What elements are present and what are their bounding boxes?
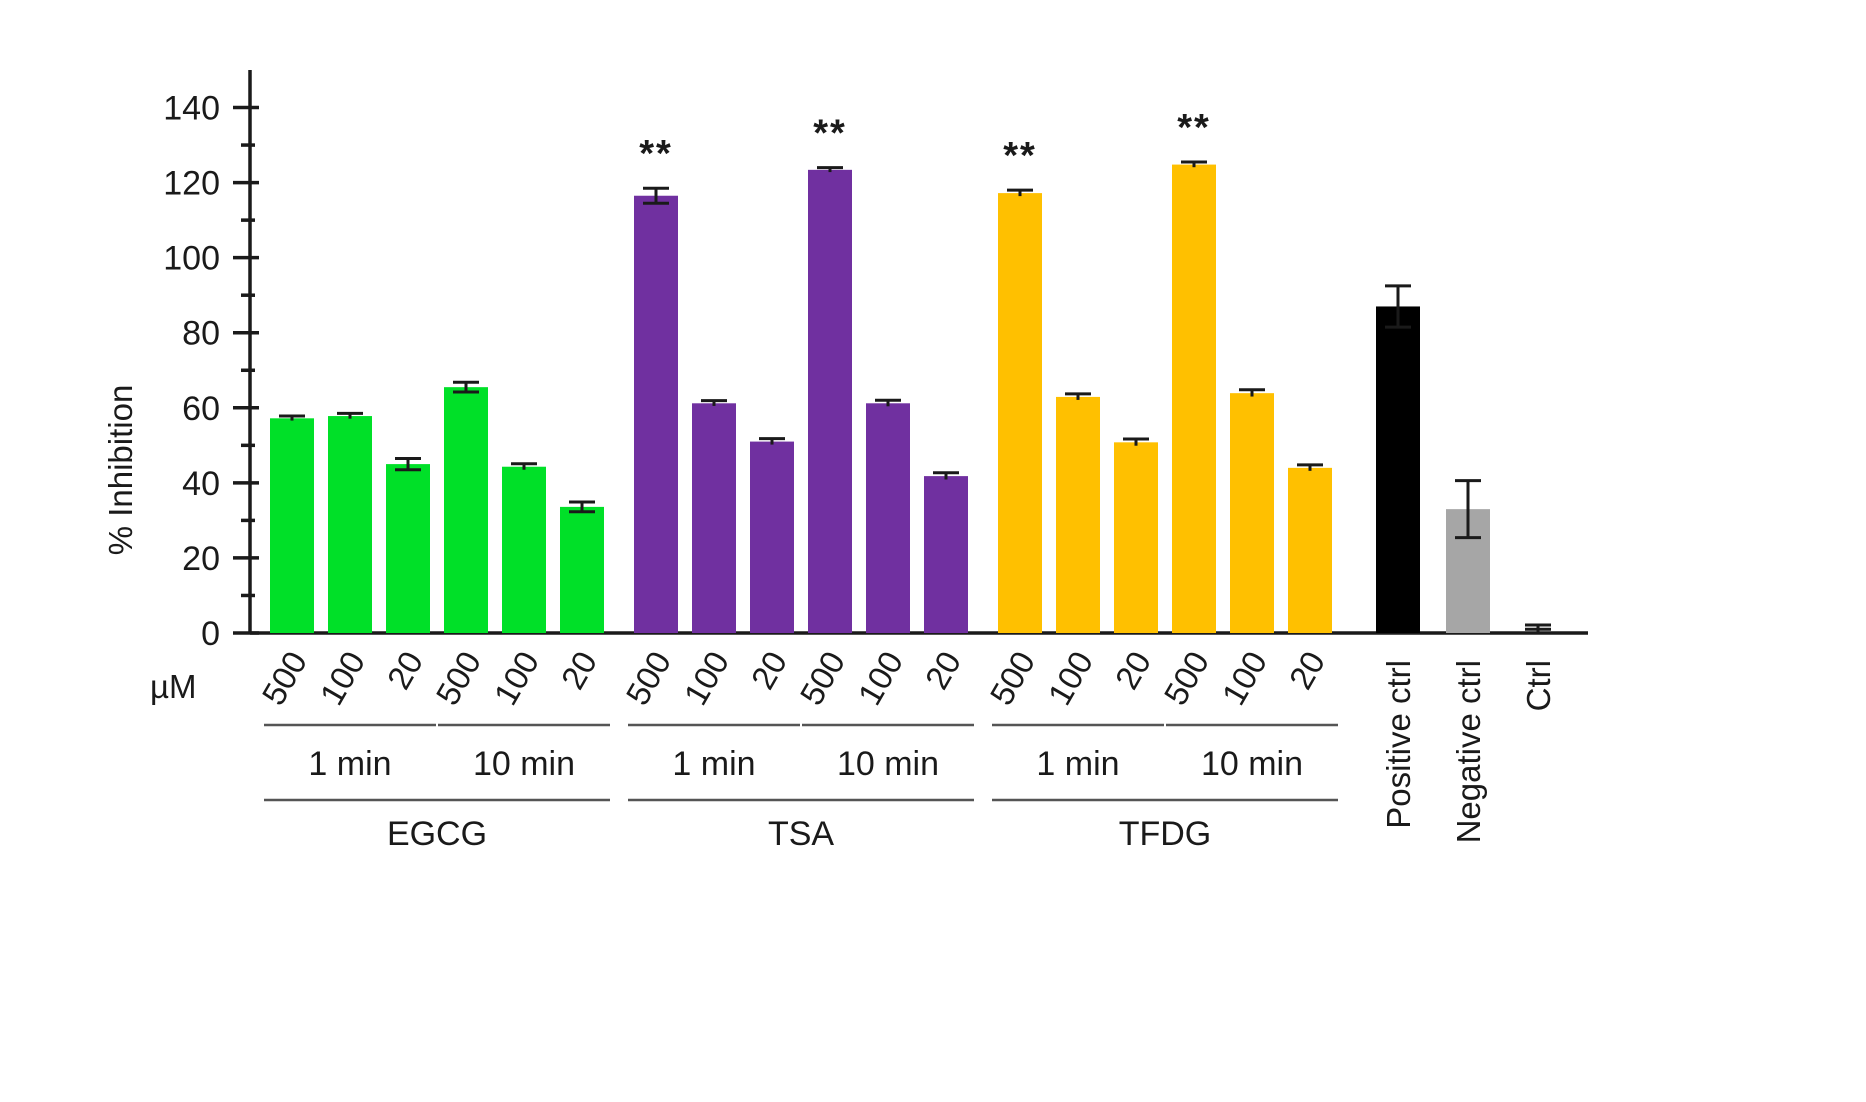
y-tick-label: 100 — [163, 240, 220, 278]
concentration-unit-label: µM — [150, 668, 197, 705]
y-tick-label: 60 — [182, 390, 220, 428]
bar-chart: % Inhibition 020406080100120140 ********… — [0, 0, 1866, 1102]
control-label: Ctrl — [1520, 660, 1557, 711]
compound-group-label: EGCG — [387, 815, 487, 853]
bar — [1376, 306, 1420, 633]
figure-canvas: % Inhibition 020406080100120140 ********… — [0, 0, 1866, 1102]
significance-marker: ** — [813, 113, 847, 155]
y-tick-label: 140 — [163, 90, 220, 128]
significance-marker: ** — [1003, 135, 1037, 177]
bar — [998, 193, 1042, 633]
time-group-label: 1 min — [672, 745, 755, 783]
bar — [866, 403, 910, 633]
compound-group-label: TSA — [768, 815, 834, 853]
time-group-label: 1 min — [308, 745, 391, 783]
bar — [1288, 468, 1332, 633]
bar — [692, 403, 736, 633]
compound-group-label: TFDG — [1119, 815, 1212, 853]
significance-marker: ** — [1177, 107, 1211, 149]
time-group-label: 10 min — [473, 745, 575, 783]
y-tick-label: 120 — [163, 165, 220, 203]
bar — [270, 418, 314, 633]
y-tick-label: 20 — [182, 540, 220, 578]
y-tick-label: 0 — [201, 615, 220, 653]
bar — [1114, 442, 1158, 633]
bar — [750, 442, 794, 633]
bar — [1056, 397, 1100, 633]
bar — [634, 196, 678, 633]
bar — [560, 507, 604, 633]
control-label: Positive ctrl — [1380, 660, 1417, 829]
bar — [328, 416, 372, 633]
time-group-label: 10 min — [837, 745, 939, 783]
bar — [924, 476, 968, 633]
bar — [502, 467, 546, 633]
bar — [444, 387, 488, 633]
y-tick-label: 80 — [182, 315, 220, 353]
time-group-label: 10 min — [1201, 745, 1303, 783]
bar — [808, 170, 852, 633]
y-axis-title: % Inhibition — [102, 385, 139, 556]
bar — [1230, 393, 1274, 633]
significance-marker: ** — [639, 133, 673, 175]
bar — [386, 464, 430, 633]
bar — [1172, 165, 1216, 633]
y-tick-label: 40 — [182, 465, 220, 503]
time-group-label: 1 min — [1036, 745, 1119, 783]
control-label: Negative ctrl — [1450, 660, 1487, 843]
